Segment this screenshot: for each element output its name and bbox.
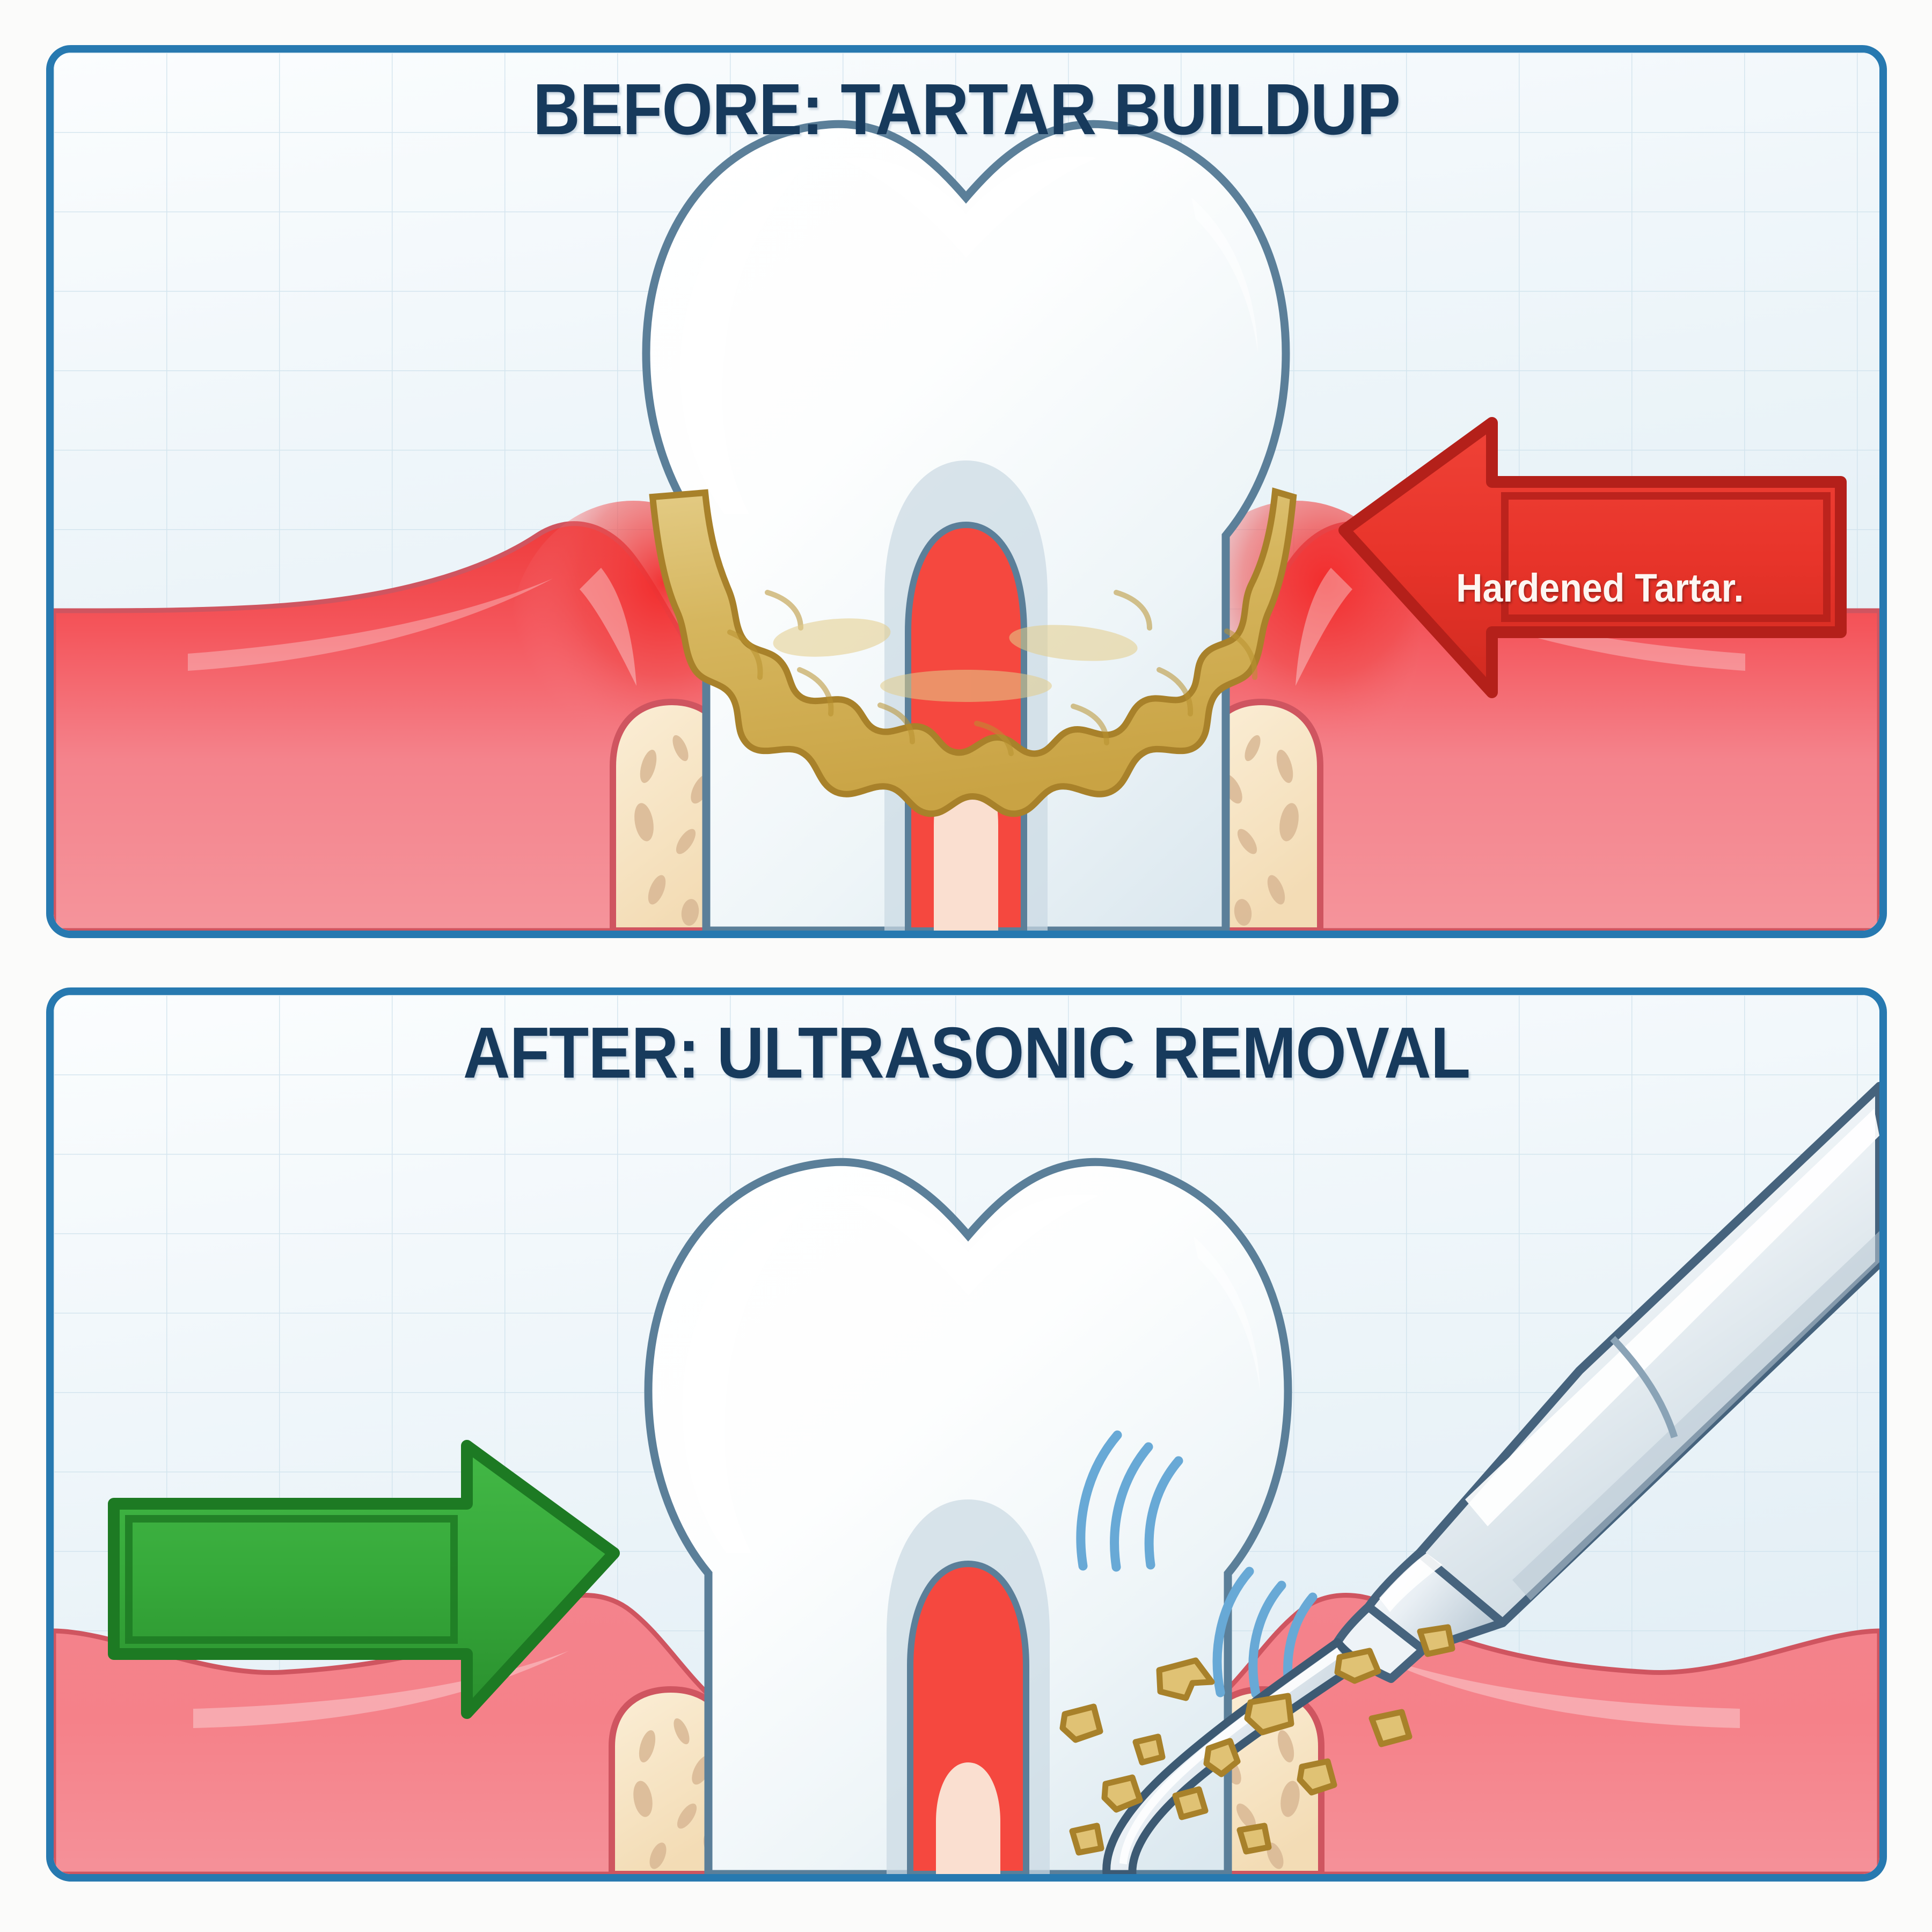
after-illustration bbox=[54, 995, 1879, 1874]
tooth-before bbox=[646, 124, 1286, 931]
panel-after-ultrasonic-removal: AFTER: ULTRASONIC REMOVAL Ultrasonic Rem… bbox=[46, 987, 1887, 1882]
infographic-root: BEFORE: TARTAR BUILDUP Hardened Tartar. bbox=[0, 0, 1932, 1932]
panel-before-tartar-buildup: BEFORE: TARTAR BUILDUP Hardened Tartar. bbox=[46, 45, 1887, 938]
before-illustration bbox=[54, 53, 1879, 931]
panel-before-title: BEFORE: TARTAR BUILDUP bbox=[145, 68, 1788, 151]
tartar-callout-label: Hardened Tartar. bbox=[1456, 565, 1744, 611]
panel-after-title: AFTER: ULTRASONIC REMOVAL bbox=[145, 1011, 1788, 1094]
